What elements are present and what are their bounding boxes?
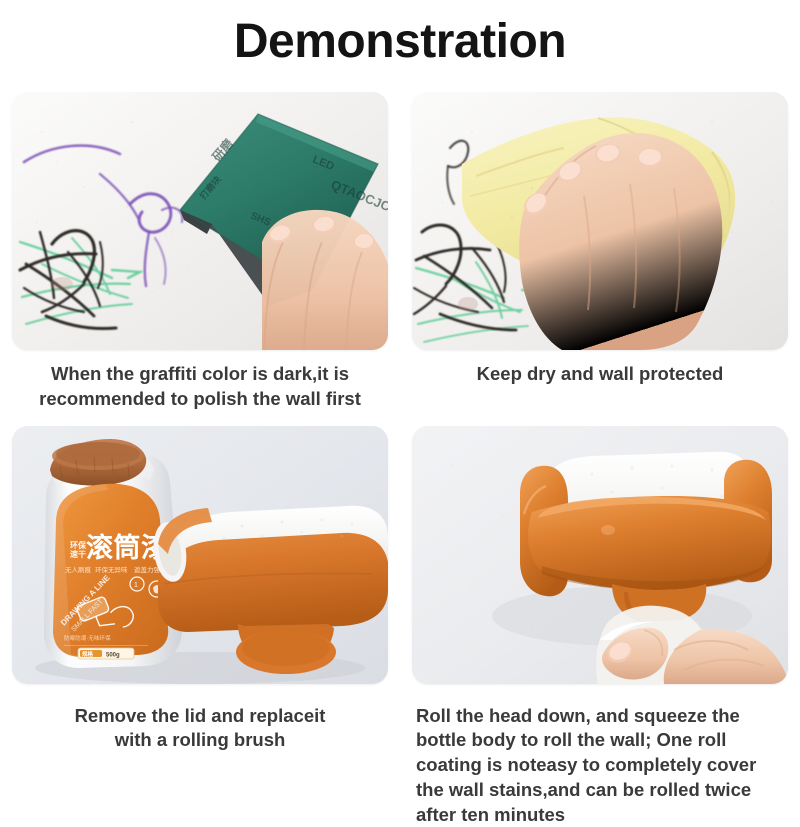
step-caption-4: Roll the head down, and squeeze the bott… <box>412 704 788 827</box>
step-card-2: Keep dry and wall protected <box>400 92 800 412</box>
steps-row-bottom: 环保 速干 滚筒漆 无人刷痕 环保无异味 遮盖力强 <box>0 426 800 827</box>
svg-text:环保无异味: 环保无异味 <box>95 565 128 574</box>
svg-text:速干: 速干 <box>70 549 86 559</box>
step-card-4: Roll the head down, and squeeze the bott… <box>400 426 800 827</box>
svg-text:1: 1 <box>134 582 138 589</box>
svg-text:500g: 500g <box>106 652 120 658</box>
photo-wiping-wall-cloth <box>412 92 788 350</box>
photo-rolling-wall-with-roller <box>412 426 788 684</box>
svg-text:无人刷痕: 无人刷痕 <box>65 565 92 574</box>
svg-text:遮盖力强: 遮盖力强 <box>134 565 161 574</box>
photo-paint-bottle-and-roller: 环保 速干 滚筒漆 无人刷痕 环保无异味 遮盖力强 <box>12 426 388 684</box>
svg-text:规格: 规格 <box>82 650 94 658</box>
step-caption-1: When the graffiti color is dark,it is re… <box>12 362 388 412</box>
page-title: Demonstration <box>0 14 800 69</box>
demonstration-page: Demonstration <box>0 0 800 800</box>
photo-sanding-graffiti-wall: QTAOCJC LED SHS 研磨 打磨块 海绵 <box>12 92 388 350</box>
step-caption-2: Keep dry and wall protected <box>412 362 788 387</box>
svg-text:防霉防潮·无味环保: 防霉防潮·无味环保 <box>64 634 111 642</box>
step-caption-3: Remove the lid and replaceit with a roll… <box>12 704 388 754</box>
step-card-1: QTAOCJC LED SHS 研磨 打磨块 海绵 <box>0 92 400 412</box>
steps-row-top: QTAOCJC LED SHS 研磨 打磨块 海绵 <box>0 92 800 412</box>
step-card-3: 环保 速干 滚筒漆 无人刷痕 环保无异味 遮盖力强 <box>0 426 400 827</box>
steps-grid: QTAOCJC LED SHS 研磨 打磨块 海绵 <box>0 92 800 827</box>
svg-text:环保: 环保 <box>70 540 87 550</box>
